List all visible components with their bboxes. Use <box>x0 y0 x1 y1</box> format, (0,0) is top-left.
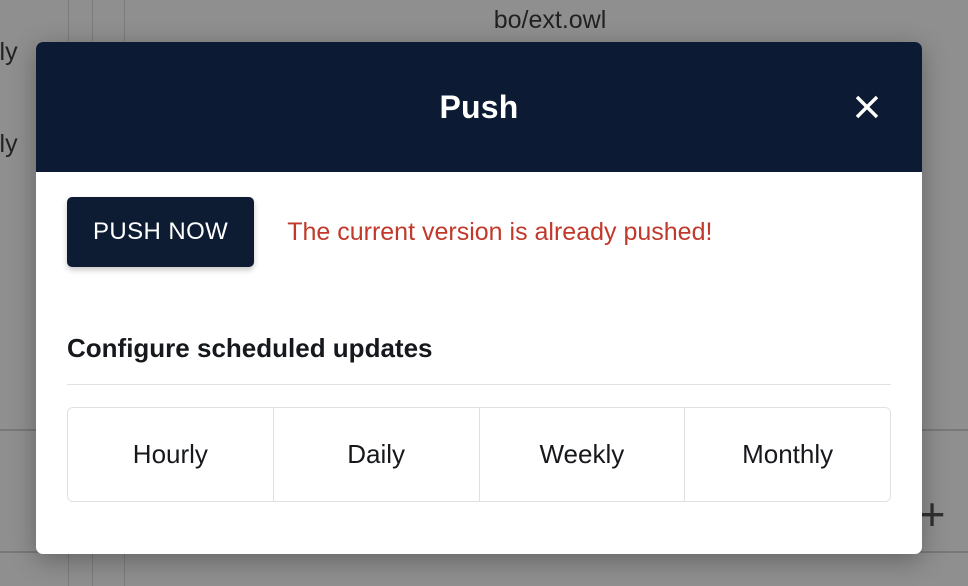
push-action-row: PUSH NOW The current version is already … <box>67 172 891 267</box>
screen: bo/ext.owl lly lly + Push PUSH NOW The c… <box>0 0 968 586</box>
close-icon[interactable] <box>850 90 884 124</box>
schedule-tab-daily[interactable]: Daily <box>274 408 480 501</box>
push-modal: Push PUSH NOW The current version is alr… <box>36 42 922 554</box>
close-icon-glyph <box>852 92 882 122</box>
modal-body: PUSH NOW The current version is already … <box>36 172 922 502</box>
modal-title: Push <box>439 89 518 126</box>
push-status-message: The current version is already pushed! <box>287 218 712 247</box>
push-now-button[interactable]: PUSH NOW <box>67 197 254 267</box>
section-divider <box>67 384 891 385</box>
modal-header: Push <box>36 42 922 172</box>
schedule-tab-group: Hourly Daily Weekly Monthly <box>67 407 891 502</box>
schedule-tab-hourly[interactable]: Hourly <box>68 408 274 501</box>
schedule-tab-monthly[interactable]: Monthly <box>685 408 890 501</box>
schedule-tab-weekly[interactable]: Weekly <box>480 408 686 501</box>
configure-section-heading: Configure scheduled updates <box>67 333 891 364</box>
